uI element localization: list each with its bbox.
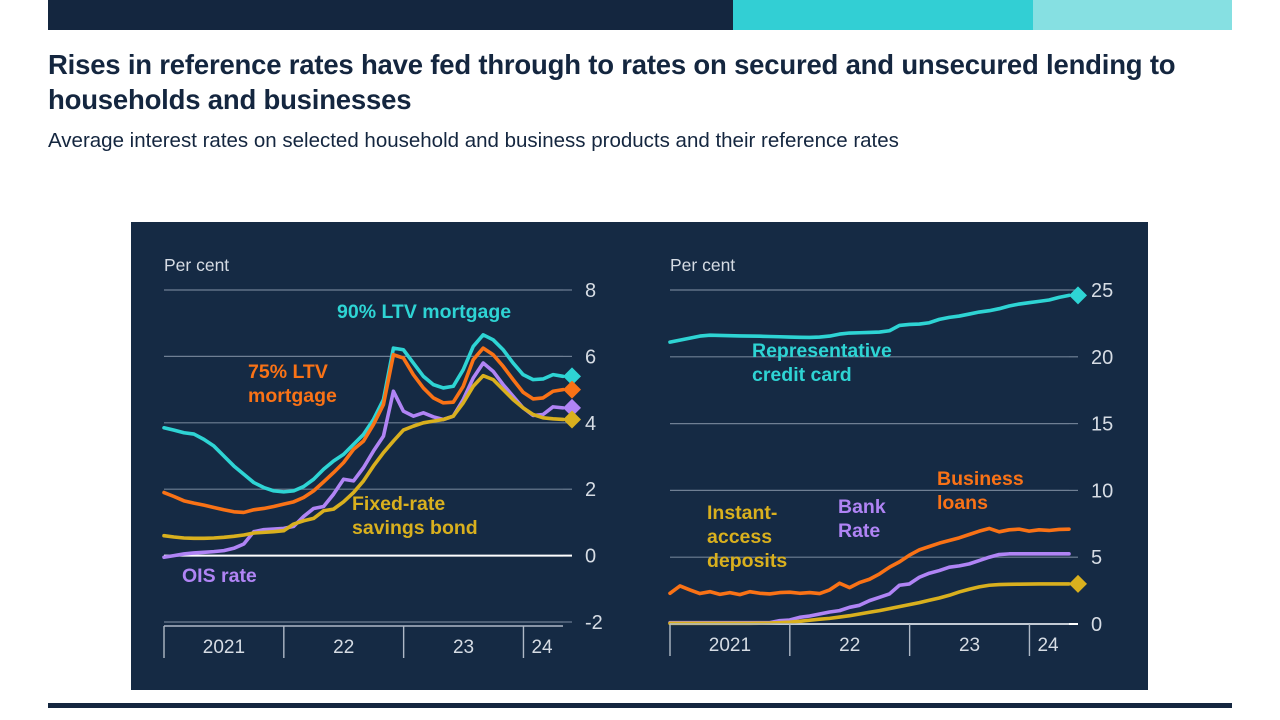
left-chart-svg: Per cent-202468202122232490% LTV mortgag… bbox=[131, 222, 651, 690]
right-chart-svg: Per cent05101520252021222324Representati… bbox=[640, 222, 1148, 690]
left-ytick-label: -2 bbox=[585, 612, 603, 634]
left-ytick-label: 6 bbox=[585, 346, 596, 368]
right-ytick-label: 20 bbox=[1091, 347, 1113, 369]
left-xtick-label: 23 bbox=[453, 637, 474, 658]
label-90-ltv-mortgage-line: 90% LTV mortgage bbox=[337, 301, 511, 323]
chart-panel: Per cent-202468202122232490% LTV mortgag… bbox=[131, 222, 1148, 690]
right-series-line bbox=[670, 295, 1069, 342]
label-90-ltv-mortgage: 90% LTV mortgage bbox=[337, 301, 511, 323]
label-instant-access-deposits-line: access bbox=[707, 526, 772, 548]
left-ytick-label: 8 bbox=[585, 280, 596, 302]
left-ytick-label: 2 bbox=[585, 479, 596, 501]
left-xtick-label: 24 bbox=[531, 637, 553, 658]
right-end-marker-diamond bbox=[1069, 286, 1087, 304]
left-ytick-label: 0 bbox=[585, 546, 596, 568]
left-axis-note: Per cent bbox=[164, 255, 229, 275]
right-xtick-label: 23 bbox=[959, 635, 980, 656]
left-end-marker-diamond bbox=[563, 410, 581, 428]
right-axis-note: Per cent bbox=[670, 255, 735, 275]
right-ytick-label: 10 bbox=[1091, 480, 1113, 502]
label-business-loans-line: loans bbox=[937, 492, 988, 514]
label-instant-access-deposits-line: Instant- bbox=[707, 502, 777, 524]
label-representative-credit-card-line: credit card bbox=[752, 364, 852, 386]
left-ytick-label: 4 bbox=[585, 413, 596, 435]
label-bank-rate: BankRate bbox=[838, 496, 886, 542]
right-ytick-label: 15 bbox=[1091, 414, 1113, 436]
label-fixed-rate-savings-bond-line: savings bond bbox=[352, 517, 478, 539]
left-xtick-label: 22 bbox=[333, 637, 354, 658]
label-representative-credit-card-line: Representative bbox=[752, 340, 892, 362]
right-series-line bbox=[670, 584, 1069, 623]
label-business-loans-line: Business bbox=[937, 468, 1024, 490]
right-ytick-label: 5 bbox=[1091, 547, 1102, 569]
label-fixed-rate-savings-bond-line: Fixed-rate bbox=[352, 493, 445, 515]
left-series-line bbox=[164, 348, 563, 512]
left-end-marker-diamond bbox=[563, 381, 581, 399]
right-end-marker-diamond bbox=[1069, 575, 1087, 593]
teal-bar bbox=[733, 0, 1033, 30]
navy-bar bbox=[48, 0, 733, 30]
label-75-ltv-mortgage-line: mortgage bbox=[248, 385, 337, 407]
label-fixed-rate-savings-bond: Fixed-ratesavings bond bbox=[352, 493, 478, 539]
light-teal-bar bbox=[1033, 0, 1232, 30]
left-chart: Per cent-202468202122232490% LTV mortgag… bbox=[131, 222, 651, 690]
label-ois-rate: OIS rate bbox=[182, 565, 257, 587]
label-bank-rate-line: Rate bbox=[838, 520, 880, 542]
right-ytick-label: 0 bbox=[1091, 614, 1102, 636]
page-title: Rises in reference rates have fed throug… bbox=[48, 48, 1238, 117]
label-bank-rate-line: Bank bbox=[838, 496, 886, 518]
label-75-ltv-mortgage: 75% LTVmortgage bbox=[248, 361, 337, 407]
right-xtick-label: 22 bbox=[839, 635, 860, 656]
right-chart: Per cent05101520252021222324Representati… bbox=[640, 222, 1148, 690]
header-color-bar bbox=[48, 0, 1232, 30]
left-xtick-label: 2021 bbox=[203, 637, 245, 658]
page-subtitle: Average interest rates on selected house… bbox=[48, 128, 1238, 154]
label-instant-access-deposits: Instant-accessdeposits bbox=[707, 502, 787, 572]
right-xtick-label: 2021 bbox=[709, 635, 751, 656]
label-75-ltv-mortgage-line: 75% LTV bbox=[248, 361, 328, 383]
right-xtick-label: 24 bbox=[1037, 635, 1059, 656]
label-representative-credit-card: Representativecredit card bbox=[752, 340, 892, 386]
label-instant-access-deposits-line: deposits bbox=[707, 550, 787, 572]
label-ois-rate-line: OIS rate bbox=[182, 565, 257, 587]
right-ytick-label: 25 bbox=[1091, 280, 1113, 302]
footer-rule bbox=[48, 703, 1232, 708]
